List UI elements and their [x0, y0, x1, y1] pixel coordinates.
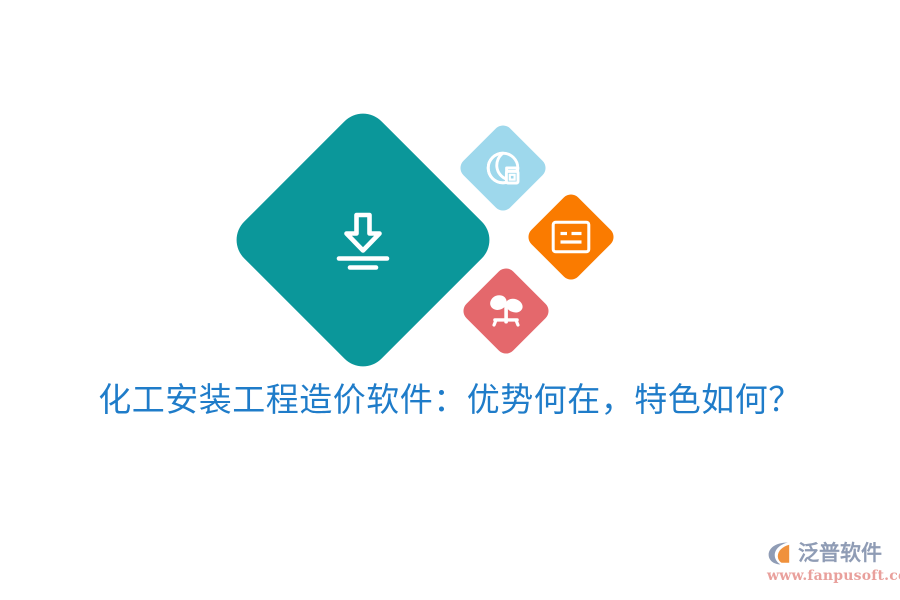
- watermark-logo: 泛普软件 www.fanpusoft.com: [766, 534, 890, 588]
- tile-download: [226, 103, 500, 377]
- poster-canvas: 化工安装工程造价软件：优势何在，特色如何？ 泛普软件 www.fanpusoft…: [0, 0, 900, 600]
- tile-form: [524, 190, 617, 283]
- page-title: 化工安装工程造价软件：优势何在，特色如何？: [0, 378, 900, 422]
- fanpu-logo-icon: [766, 539, 794, 567]
- form-card-icon: [551, 220, 591, 254]
- logo-wordmark: 泛普软件: [798, 539, 882, 567]
- sprout-icon: [485, 291, 527, 331]
- logo-top-row: 泛普软件: [766, 538, 882, 568]
- tile-growth: [459, 264, 552, 357]
- tile-download-content: [266, 143, 460, 337]
- pie-chart-icon: [484, 149, 522, 187]
- tile-form-content: [538, 204, 604, 270]
- tile-analytics-content: [470, 135, 536, 201]
- logo-url: www.fanpusoft.com: [767, 567, 900, 585]
- tile-analytics: [456, 121, 549, 214]
- download-icon: [326, 203, 400, 277]
- tile-growth-content: [473, 278, 539, 344]
- diamond-tile-cluster: [0, 0, 900, 420]
